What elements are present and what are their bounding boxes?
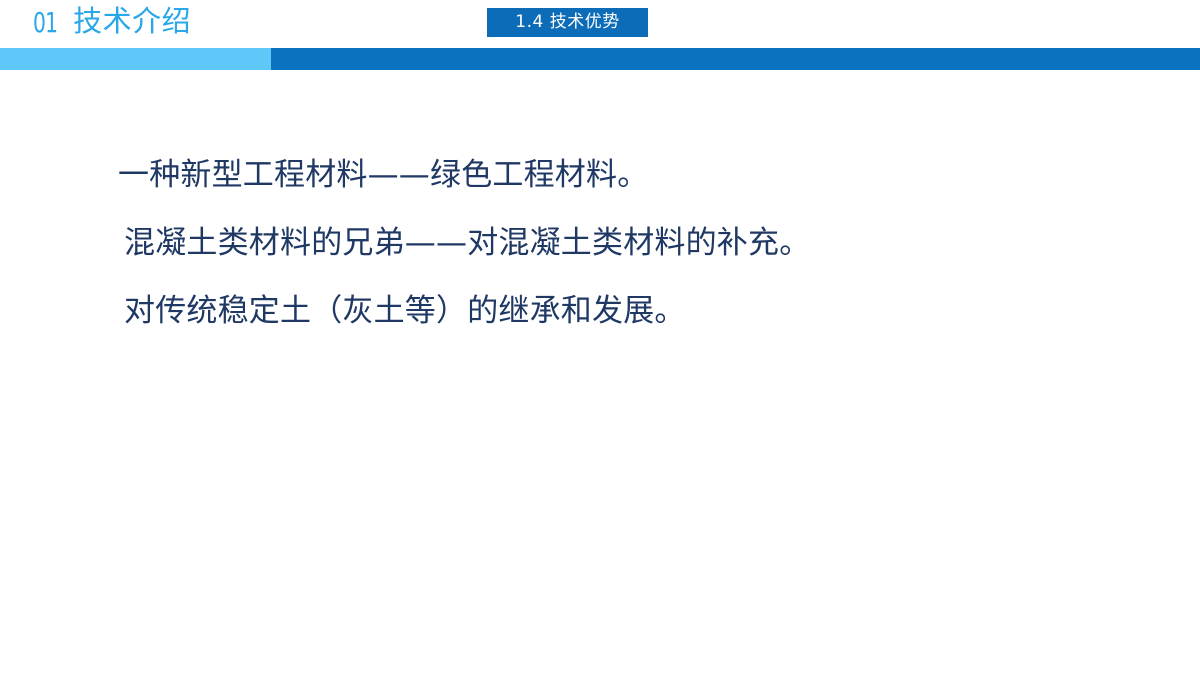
slide-root: 01 技术介绍 1.4 技术优势 一种新型工程材料——绿色工程材料。 混凝土类材… xyxy=(0,0,1200,675)
topic-badge[interactable]: 1.4 技术优势 xyxy=(487,8,648,37)
topic-badge-label: 1.4 技术优势 xyxy=(515,14,619,31)
section-marker: 01 技术介绍 xyxy=(33,7,191,36)
content-line: 一种新型工程材料——绿色工程材料。 xyxy=(118,160,1118,191)
slide-body: 一种新型工程材料——绿色工程材料。 混凝土类材料的兄弟——对混凝土类材料的补充。… xyxy=(0,70,1200,675)
page-title: 技术介绍 xyxy=(73,7,191,36)
header-divider xyxy=(0,48,1200,70)
content-line: 混凝土类材料的兄弟——对混凝土类材料的补充。 xyxy=(118,228,1118,259)
slide-header: 01 技术介绍 1.4 技术优势 xyxy=(0,0,1200,48)
divider-segment-dark xyxy=(271,48,1200,70)
content-line: 对传统稳定土（灰土等）的继承和发展。 xyxy=(118,296,1118,327)
content-list: 一种新型工程材料——绿色工程材料。 混凝土类材料的兄弟——对混凝土类材料的补充。… xyxy=(118,160,1118,364)
divider-segment-light xyxy=(0,48,271,70)
section-number: 01 xyxy=(33,10,57,37)
